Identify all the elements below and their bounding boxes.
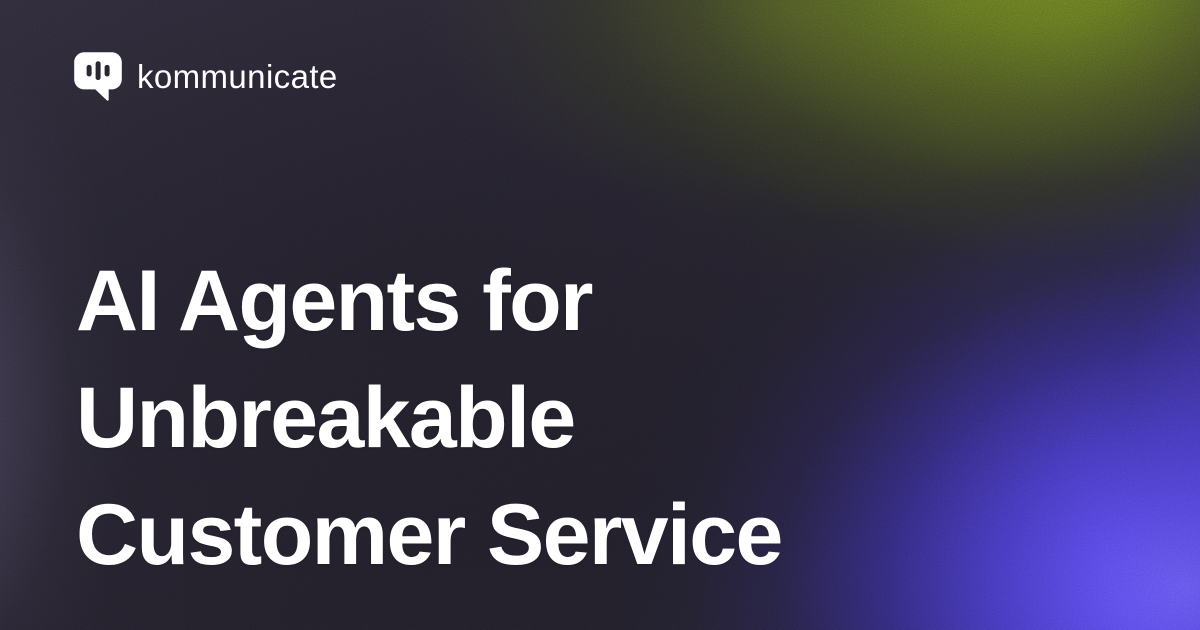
card-content: kommunicate AI Agents for Unbreakable Cu… [0, 0, 1200, 630]
brand-logo [72, 50, 124, 102]
headline-line-1: AI Agents for [76, 243, 782, 360]
brand-name-text: kommunicate [137, 60, 338, 93]
og-card: kommunicate AI Agents for Unbreakable Cu… [0, 0, 1200, 630]
headline-line-2: Unbreakable [76, 360, 782, 477]
headline-line-3: Customer Service [76, 477, 782, 594]
brand-lockup: kommunicate [72, 50, 338, 102]
page-title: AI Agents for Unbreakable Customer Servi… [76, 243, 782, 594]
speech-bubble-equalizer-icon [72, 50, 124, 102]
